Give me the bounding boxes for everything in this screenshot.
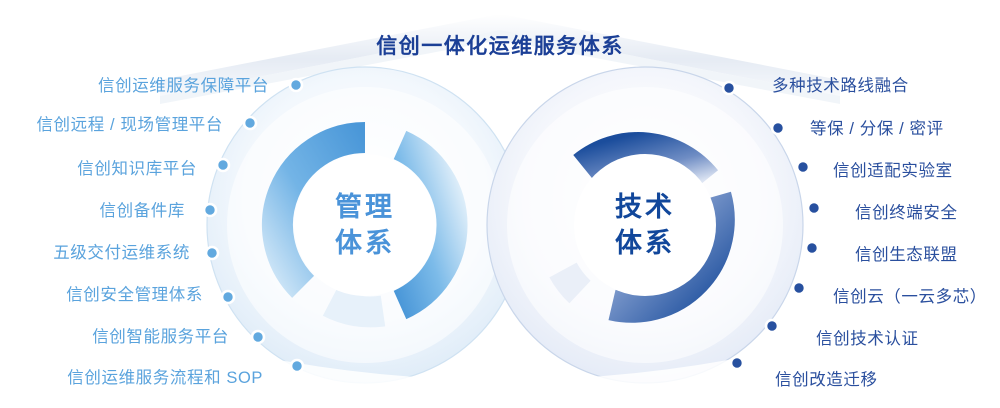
right-label-3[interactable]: 信创适配实验室: [833, 163, 953, 180]
right-label-column: 多种技术路线融合 等保 / 分保 / 密评 信创适配实验室 信创终端安全 信创生…: [0, 0, 1000, 408]
right-label-4[interactable]: 信创终端安全: [855, 205, 958, 222]
right-label-5[interactable]: 信创生态联盟: [855, 247, 958, 264]
right-label-6[interactable]: 信创云（一云多芯）: [833, 289, 987, 306]
right-label-7[interactable]: 信创技术认证: [816, 331, 919, 348]
right-label-2[interactable]: 等保 / 分保 / 密评: [810, 121, 944, 138]
right-label-1[interactable]: 多种技术路线融合: [772, 78, 909, 95]
infographic-canvas: 信创一体化运维服务体系 管理 体系 技术 体系 信创运维服务保障平台 信创远程 …: [0, 0, 1000, 408]
right-label-8[interactable]: 信创改造迁移: [775, 372, 878, 389]
